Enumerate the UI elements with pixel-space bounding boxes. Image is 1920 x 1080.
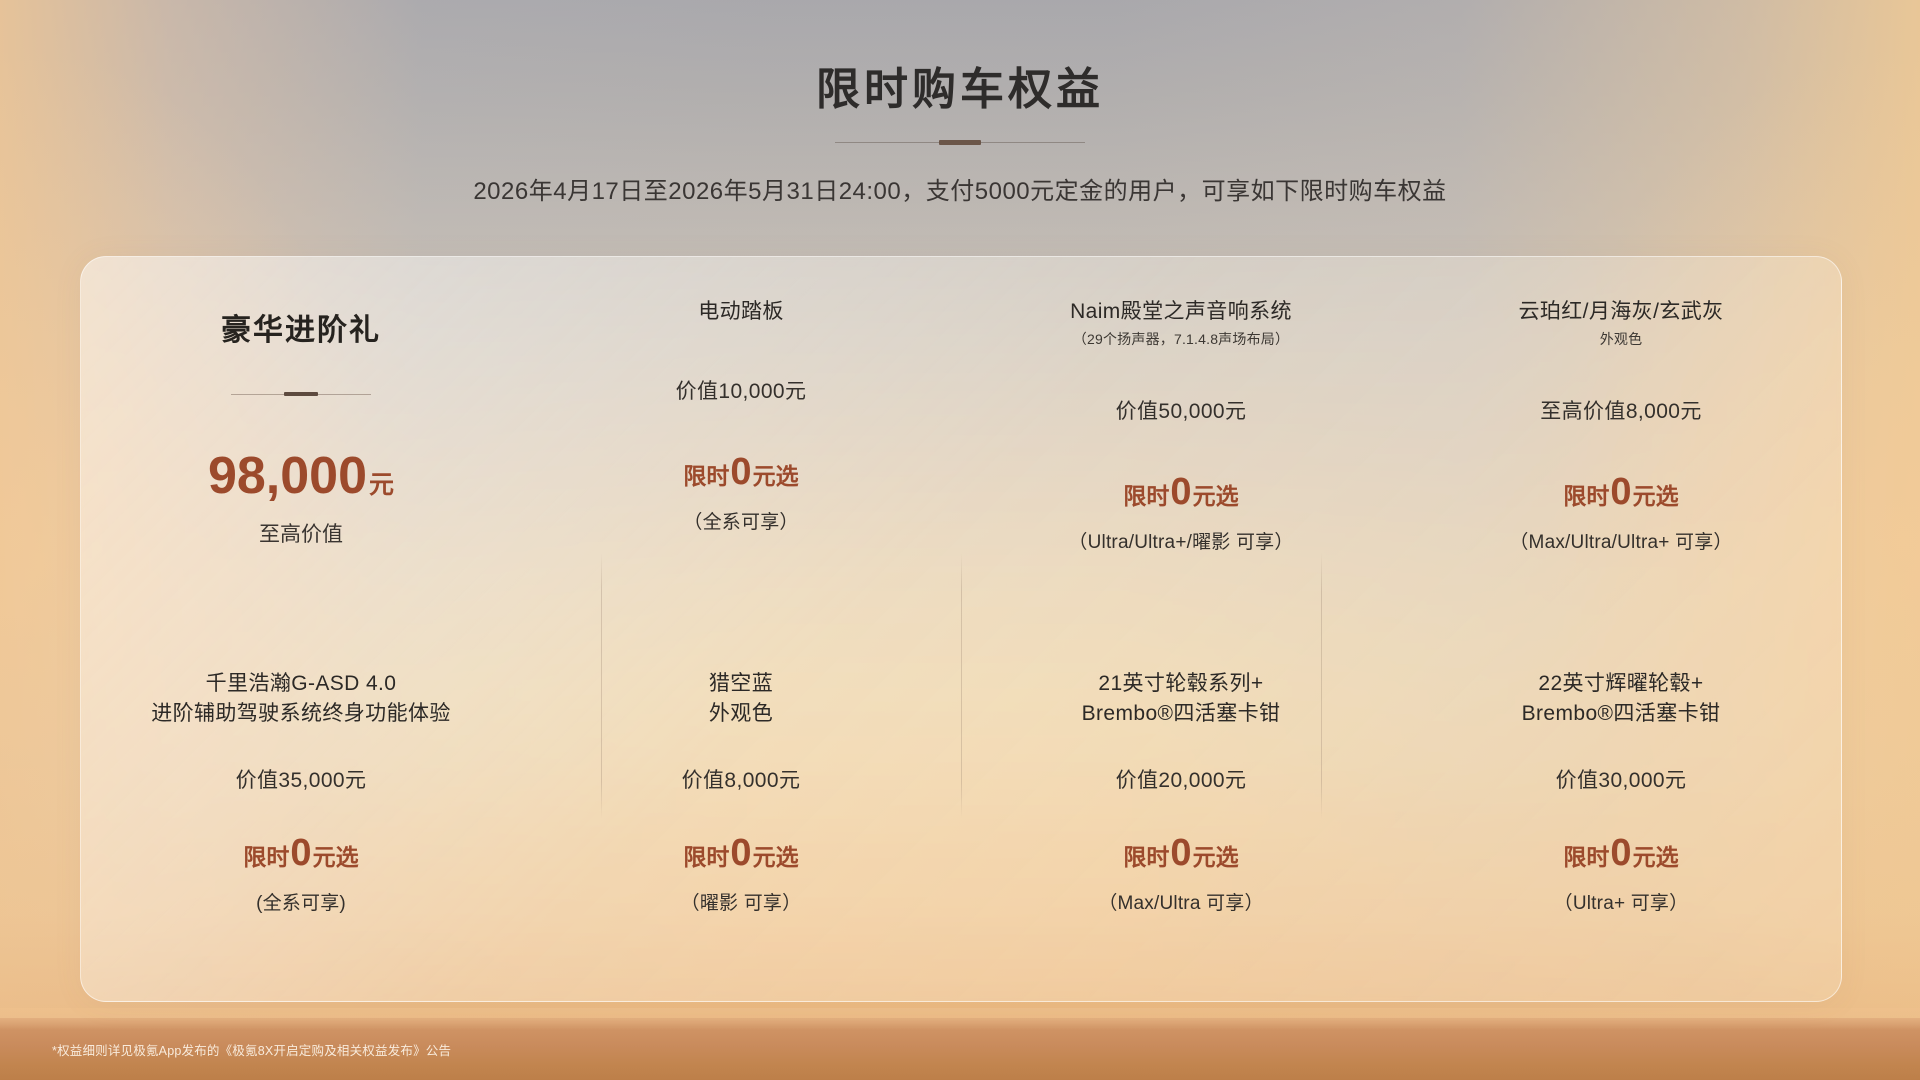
benefit-offer-zero: 0 [290, 832, 311, 874]
benefit-name: 21英寸轮毂系列+ [1098, 669, 1263, 699]
benefit-cell-22-inch-wheels: 22英寸辉曜轮毂+ Brembo®四活塞卡钳 价值30,000元 限时0元选 （… [1401, 629, 1841, 1001]
benefit-name: 千里浩瀚G-ASD 4.0 [206, 669, 397, 699]
benefit-cell-electric-running-board: 电动踏板 价值10,000元 限时0元选 （全系可享） [521, 257, 961, 629]
benefit-offer-suffix: 元选 [1193, 844, 1239, 870]
benefit-offer-suffix: 元选 [1633, 844, 1679, 870]
benefit-name: 猎空蓝 [709, 669, 773, 699]
title-divider-ornament [835, 139, 1085, 145]
headline-title: 豪华进阶礼 [221, 305, 381, 349]
headline-divider-nub [284, 392, 318, 396]
page-title: 限时购车权益 [0, 62, 1920, 117]
benefit-offer: 限时0元选 [1563, 834, 1678, 872]
headline-amount-unit: 元 [369, 471, 394, 499]
benefit-name: Naim殿堂之声音响系统 [1070, 297, 1292, 327]
benefit-availability: (全系可享) [256, 888, 346, 915]
page-subtitle: 2026年4月17日至2026年5月31日24:00，支付5000元定金的用户，… [0, 171, 1920, 206]
benefit-note: （29个扬声器，7.1.4.8声场布局） [1073, 329, 1289, 349]
benefit-value: 价值10,000元 [676, 375, 807, 405]
benefit-value: 至高价值8,000元 [1540, 395, 1702, 425]
headline-amount: 98,000元 [208, 450, 394, 502]
benefit-offer-suffix: 元选 [753, 463, 799, 489]
page-header: 限时购车权益 2026年4月17日至2026年5月31日24:00，支付5000… [0, 0, 1920, 206]
benefit-cell-exterior-color-blue: 猎空蓝 外观色 价值8,000元 限时0元选 （曜影 可享） [521, 629, 961, 1001]
column-separator-2 [961, 553, 962, 819]
benefit-offer-prefix: 限时 [1563, 844, 1609, 870]
headline-divider-ornament [231, 391, 371, 396]
benefit-cell-exterior-color-premium: 云珀红/月海灰/玄武灰 外观色 至高价值8,000元 限时0元选 （Max/Ul… [1401, 257, 1841, 629]
benefit-note: 外观色 [709, 699, 773, 729]
benefit-offer-zero: 0 [1610, 471, 1631, 513]
benefits-card: 豪华进阶礼 98,000元 至高价值 电动踏板 价值10,000元 限时0元选 … [80, 256, 1842, 1002]
benefit-offer-prefix: 限时 [1123, 483, 1169, 509]
benefit-note: Brembo®四活塞卡钳 [1522, 699, 1721, 729]
benefit-offer-zero: 0 [1610, 832, 1631, 874]
benefit-offer: 限时0元选 [243, 834, 358, 872]
benefit-offer: 限时0元选 [1563, 473, 1678, 511]
benefit-offer-prefix: 限时 [683, 844, 729, 870]
benefit-note: 进阶辅助驾驶系统终身功能体验 [151, 699, 451, 729]
benefit-cell-adas-lifetime: 千里浩瀚G-ASD 4.0 进阶辅助驾驶系统终身功能体验 价值35,000元 限… [81, 629, 521, 1001]
benefit-offer-zero: 0 [1170, 471, 1191, 513]
benefit-offer-suffix: 元选 [1633, 483, 1679, 509]
benefit-cell-naim-audio-system: Naim殿堂之声音响系统 （29个扬声器，7.1.4.8声场布局） 价值50,0… [961, 257, 1401, 629]
benefit-offer-prefix: 限时 [1123, 844, 1169, 870]
benefit-availability: （全系可享） [683, 507, 798, 534]
benefit-offer-suffix: 元选 [313, 844, 359, 870]
title-divider-nub [939, 140, 981, 145]
benefit-offer-prefix: 限时 [1563, 483, 1609, 509]
benefit-note: Brembo®四活塞卡钳 [1082, 699, 1281, 729]
benefit-offer-zero: 0 [730, 451, 751, 493]
benefit-value: 价值50,000元 [1116, 395, 1247, 425]
headline-caption: 至高价值 [259, 518, 343, 548]
benefit-name: 22英寸辉曜轮毂+ [1538, 669, 1703, 699]
benefit-availability: （曜影 可享） [681, 888, 802, 915]
benefit-offer-suffix: 元选 [753, 844, 799, 870]
benefit-value: 价值30,000元 [1556, 764, 1687, 794]
footnote-disclaimer: *权益细则详见极氪App发布的《极氪8X开启定购及相关权益发布》公告 [52, 1040, 451, 1059]
benefit-offer: 限时0元选 [1123, 473, 1238, 511]
benefit-availability: （Max/Ultra 可享） [1098, 888, 1263, 915]
benefit-offer-prefix: 限时 [243, 844, 289, 870]
benefit-name: 电动踏板 [698, 297, 784, 327]
benefit-value: 价值8,000元 [682, 764, 801, 794]
benefit-offer-suffix: 元选 [1193, 483, 1239, 509]
benefit-offer: 限时0元选 [683, 834, 798, 872]
benefit-value: 价值35,000元 [236, 764, 367, 794]
benefit-availability: （Max/Ultra/Ultra+ 可享） [1509, 527, 1732, 554]
benefit-name: 云珀红/月海灰/玄武灰 [1518, 297, 1723, 327]
benefit-availability: （Ultra+ 可享） [1554, 888, 1689, 915]
benefit-value: 价值20,000元 [1116, 764, 1247, 794]
headline-amount-number: 98,000 [208, 447, 367, 505]
column-separator-1 [601, 553, 602, 819]
benefit-note: 外观色 [1600, 329, 1643, 349]
benefit-headline-cell: 豪华进阶礼 98,000元 至高价值 [81, 257, 521, 629]
benefit-offer: 限时0元选 [683, 453, 798, 491]
benefit-offer: 限时0元选 [1123, 834, 1238, 872]
column-separator-3 [1321, 553, 1322, 819]
benefit-offer-zero: 0 [730, 832, 751, 874]
benefit-availability: （Ultra/Ultra+/曜影 可享） [1068, 527, 1293, 554]
benefit-cell-21-inch-wheels: 21英寸轮毂系列+ Brembo®四活塞卡钳 价值20,000元 限时0元选 （… [961, 629, 1401, 1001]
benefit-offer-zero: 0 [1170, 832, 1191, 874]
benefit-offer-prefix: 限时 [683, 463, 729, 489]
